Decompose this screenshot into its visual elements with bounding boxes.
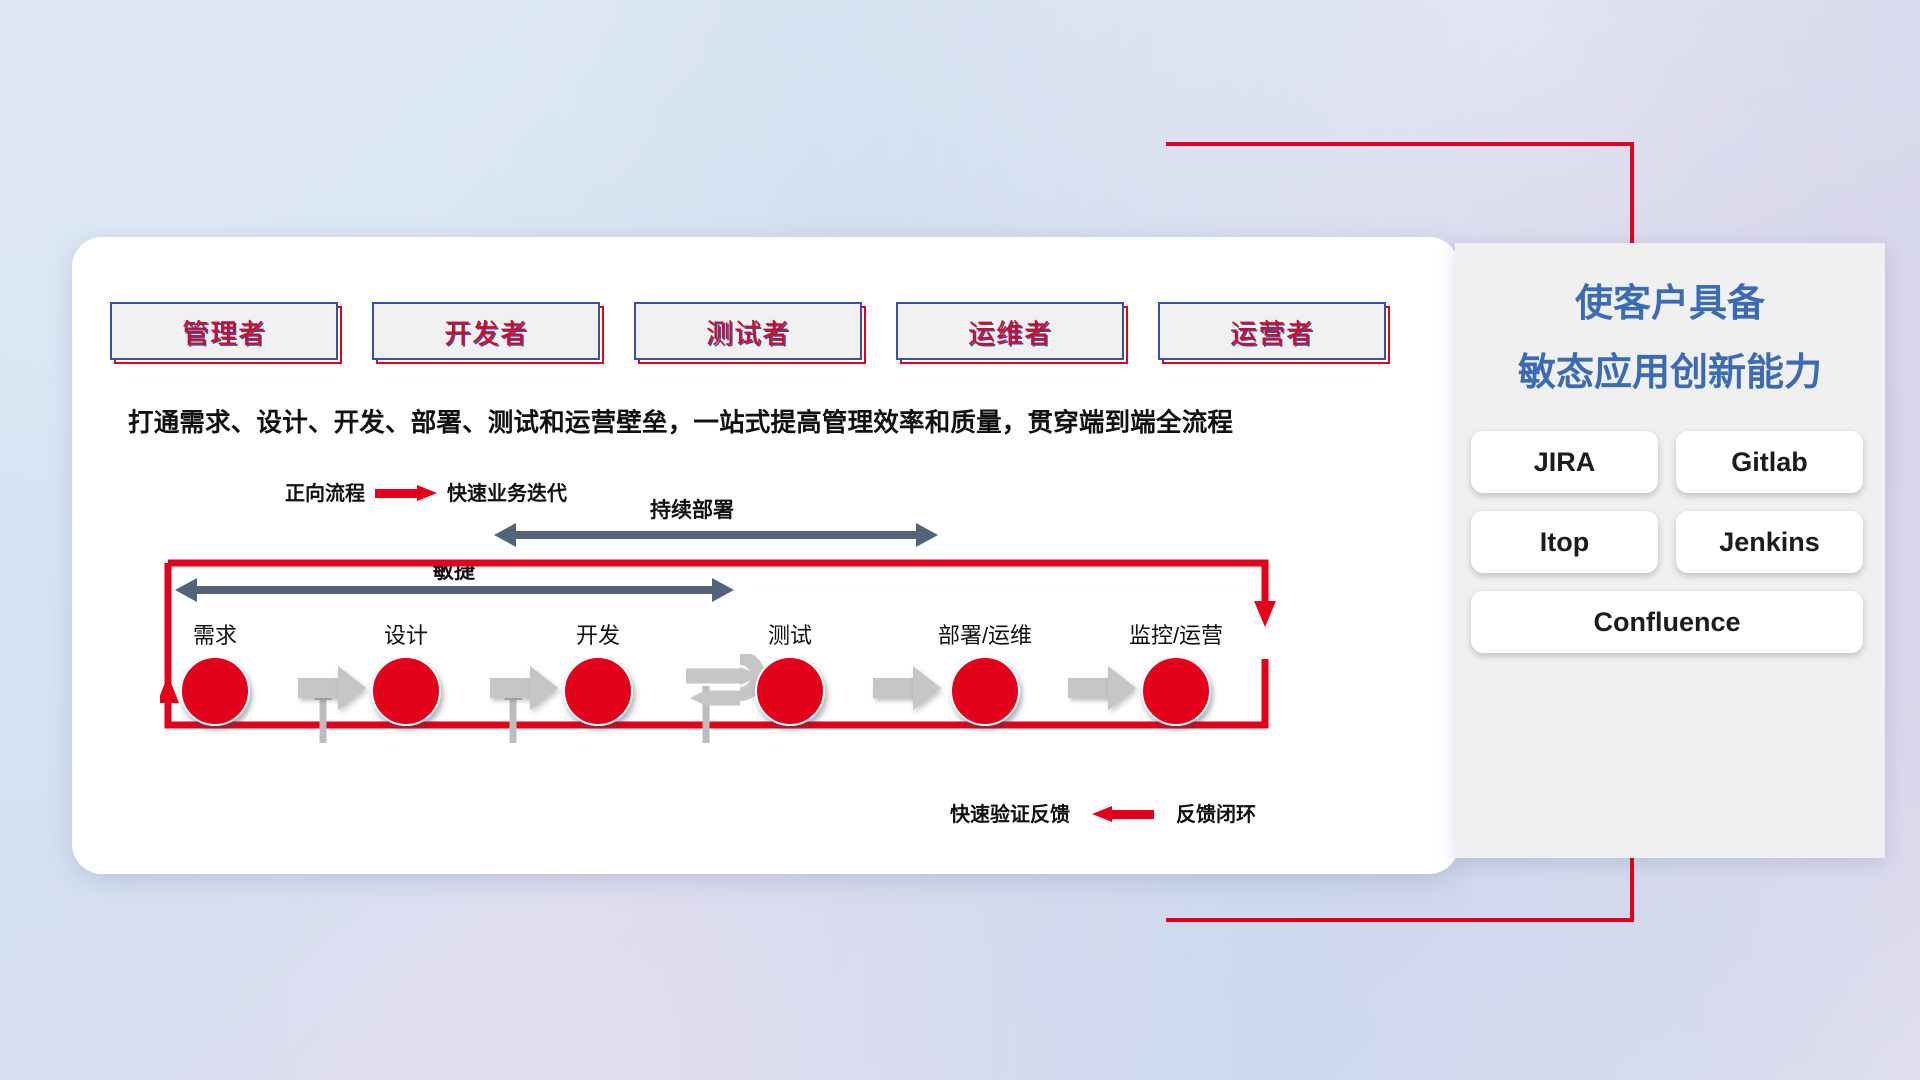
role-label: 管理者 <box>182 312 266 351</box>
stage-label: 测试 <box>730 618 850 650</box>
outcome-panel-title: 使客户具备 敏态应用创新能力 <box>1455 277 1885 401</box>
role-box-operator[interactable]: 运营者 <box>1158 302 1390 364</box>
role-box-face: 测试者 <box>634 302 862 360</box>
stage-label: 开发 <box>538 618 658 650</box>
tool-chip-gitlab[interactable]: Gitlab <box>1676 431 1863 493</box>
tool-chip-itop[interactable]: Itop <box>1471 511 1658 573</box>
stage-label: 设计 <box>346 618 466 650</box>
feedback-label-right: 反馈闭环 <box>1176 798 1256 827</box>
arrow-left-icon <box>1092 806 1154 820</box>
stage-development[interactable]: 开发 <box>538 618 658 726</box>
stage-label: 监控/运营 <box>1116 618 1236 650</box>
stage-dot <box>1141 656 1211 726</box>
tool-chip-jenkins[interactable]: Jenkins <box>1676 511 1863 573</box>
stage-label: 部署/运维 <box>925 618 1045 650</box>
role-box-row: 管理者 开发者 测试者 运维者 运营者 <box>110 302 1390 364</box>
span-arrow-continuous-deployment <box>494 523 938 547</box>
role-label: 运维者 <box>968 312 1052 351</box>
headline-text: 打通需求、设计、开发、部署、测试和运营壁垒，一站式提高管理效率和质量，贯穿端到端… <box>128 402 1428 439</box>
role-box-tester[interactable]: 测试者 <box>634 302 866 364</box>
stage-testing[interactable]: 测试 <box>730 618 850 726</box>
role-box-face: 运营者 <box>1158 302 1386 360</box>
outcome-title-line2: 敏态应用创新能力 <box>1455 346 1885 401</box>
tool-chip-jira[interactable]: JIRA <box>1471 431 1658 493</box>
role-label: 运营者 <box>1230 312 1314 351</box>
role-box-face: 开发者 <box>372 302 600 360</box>
stage-dot <box>371 656 441 726</box>
role-box-face: 运维者 <box>896 302 1124 360</box>
stage-dot <box>950 656 1020 726</box>
outcome-panel: 使客户具备 敏态应用创新能力 JIRA Gitlab Itop Jenkins … <box>1455 243 1885 858</box>
span-arrow-label-continuous-deployment: 持续部署 <box>650 494 734 524</box>
forward-flow-label-right: 快速业务迭代 <box>447 477 567 506</box>
feedback-loop-legend: 快速验证反馈 反馈闭环 <box>950 798 1256 827</box>
stage-deploy-ops[interactable]: 部署/运维 <box>925 618 1045 726</box>
tool-chip-confluence[interactable]: Confluence <box>1471 591 1863 653</box>
tool-chip-group: JIRA Gitlab Itop Jenkins Confluence <box>1471 431 1869 653</box>
stage-requirement[interactable]: 需求 <box>155 618 275 726</box>
role-box-manager[interactable]: 管理者 <box>110 302 342 364</box>
forward-flow-label-left: 正向流程 <box>285 477 365 506</box>
feedback-label-left: 快速验证反馈 <box>950 798 1070 827</box>
stage-monitor-operation[interactable]: 监控/运营 <box>1116 618 1236 726</box>
forward-flow-legend: 正向流程 快速业务迭代 <box>285 477 567 506</box>
arrow-right-icon <box>375 485 437 499</box>
role-label: 开发者 <box>444 312 528 351</box>
outcome-title-line1: 使客户具备 <box>1455 277 1885 332</box>
stage-dot <box>180 656 250 726</box>
role-box-ops[interactable]: 运维者 <box>896 302 1128 364</box>
stage-dot <box>563 656 633 726</box>
pipeline-row: 需求 设计 开发 测试 部署/运维 <box>108 618 1428 738</box>
stage-dot <box>755 656 825 726</box>
slide-canvas: 管理者 开发者 测试者 运维者 运营者 打通需 <box>0 0 1920 1080</box>
role-box-developer[interactable]: 开发者 <box>372 302 604 364</box>
role-box-face: 管理者 <box>110 302 338 360</box>
stage-design[interactable]: 设计 <box>346 618 466 726</box>
role-label: 测试者 <box>706 312 790 351</box>
stage-label: 需求 <box>155 618 275 650</box>
